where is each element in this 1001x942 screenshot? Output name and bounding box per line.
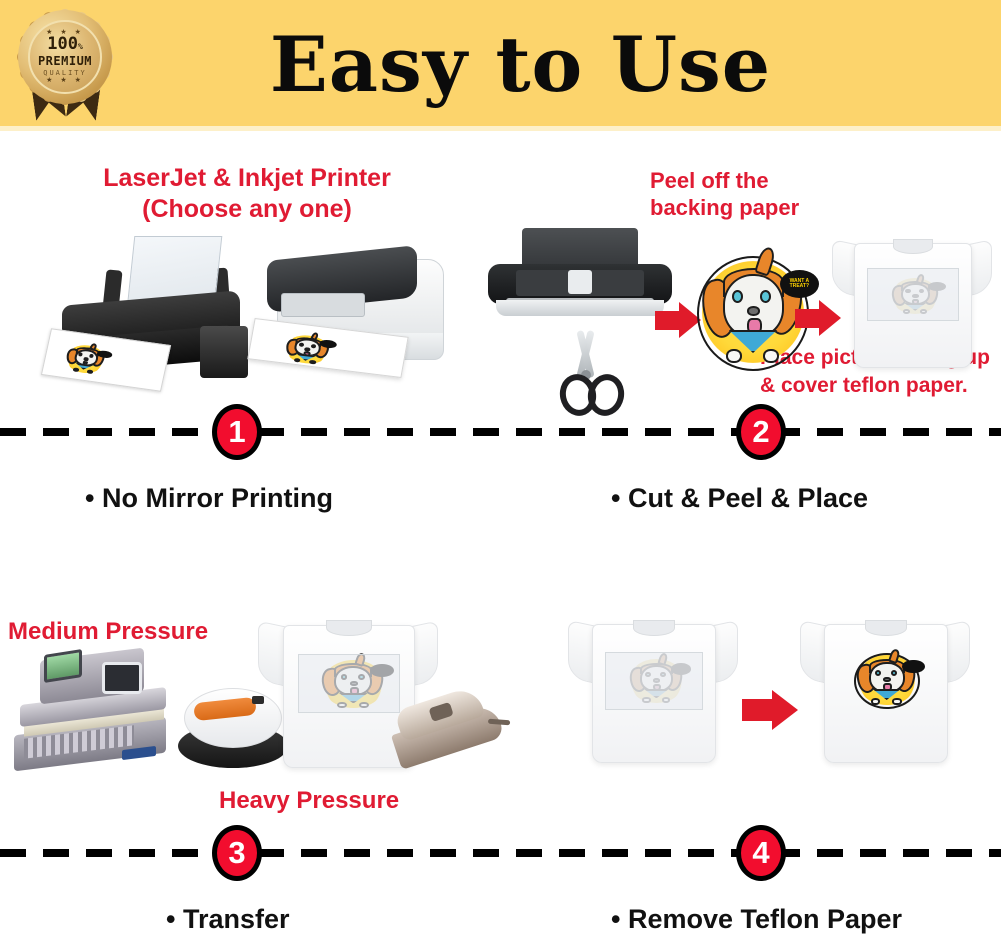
- arrow-right-icon: [742, 690, 798, 730]
- speech-bubble: [902, 660, 925, 674]
- teflon-sheet-overlay: [298, 654, 401, 714]
- scissors-icon: [548, 330, 624, 406]
- infographic-page: ★ ★ ★ 100% PREMIUM QUALITY ★ ★ ★ Easy to…: [0, 0, 1001, 942]
- t-shirt-final: [800, 612, 970, 767]
- cutting-machine-illustration: [480, 228, 680, 338]
- header-underline: [0, 126, 1001, 131]
- heat-press-illustration: [14, 652, 174, 778]
- step2-caption: • Cut & Peel & Place: [611, 483, 868, 514]
- step2-heading: Peel off the backing paper: [650, 168, 870, 222]
- dog-artwork-final: [851, 649, 922, 711]
- press-control-panel: [102, 662, 142, 694]
- step-badge-2: 2: [736, 404, 786, 460]
- laser-printer-illustration: [255, 243, 455, 383]
- step1-heading: LaserJet & Inkjet Printer (Choose any on…: [72, 163, 422, 224]
- step-badge-1: 1: [212, 404, 262, 460]
- ink-tank: [200, 326, 248, 378]
- step4-caption: • Remove Teflon Paper: [611, 904, 902, 935]
- header-banner: ★ ★ ★ 100% PREMIUM QUALITY ★ ★ ★ Easy to…: [0, 0, 1001, 131]
- inkjet-printer-illustration: [52, 240, 262, 385]
- step-badge-3: 3: [212, 825, 262, 881]
- output-slot: [281, 293, 365, 317]
- teflon-sheet-overlay: [867, 268, 959, 320]
- t-shirt-before-removal: [568, 612, 738, 767]
- step-divider-line: [0, 849, 1001, 857]
- speech-bubble: WANT A TREAT?: [780, 270, 819, 298]
- dog-artwork-small: [59, 339, 112, 378]
- step3-heading-secondary: Heavy Pressure: [219, 786, 399, 815]
- step3-caption: • Transfer: [166, 904, 290, 935]
- cutter-carriage: [568, 270, 592, 294]
- step3-heading: Medium Pressure: [8, 617, 208, 646]
- page-title: Easy to Use: [0, 10, 1001, 120]
- step-badge-4: 4: [736, 825, 786, 881]
- teflon-sheet-overlay: [605, 652, 702, 710]
- t-shirt-with-teflon: [832, 232, 992, 372]
- dog-artwork-small: [278, 329, 336, 371]
- step-divider-line: [0, 428, 1001, 436]
- step1-caption: • No Mirror Printing: [85, 483, 333, 514]
